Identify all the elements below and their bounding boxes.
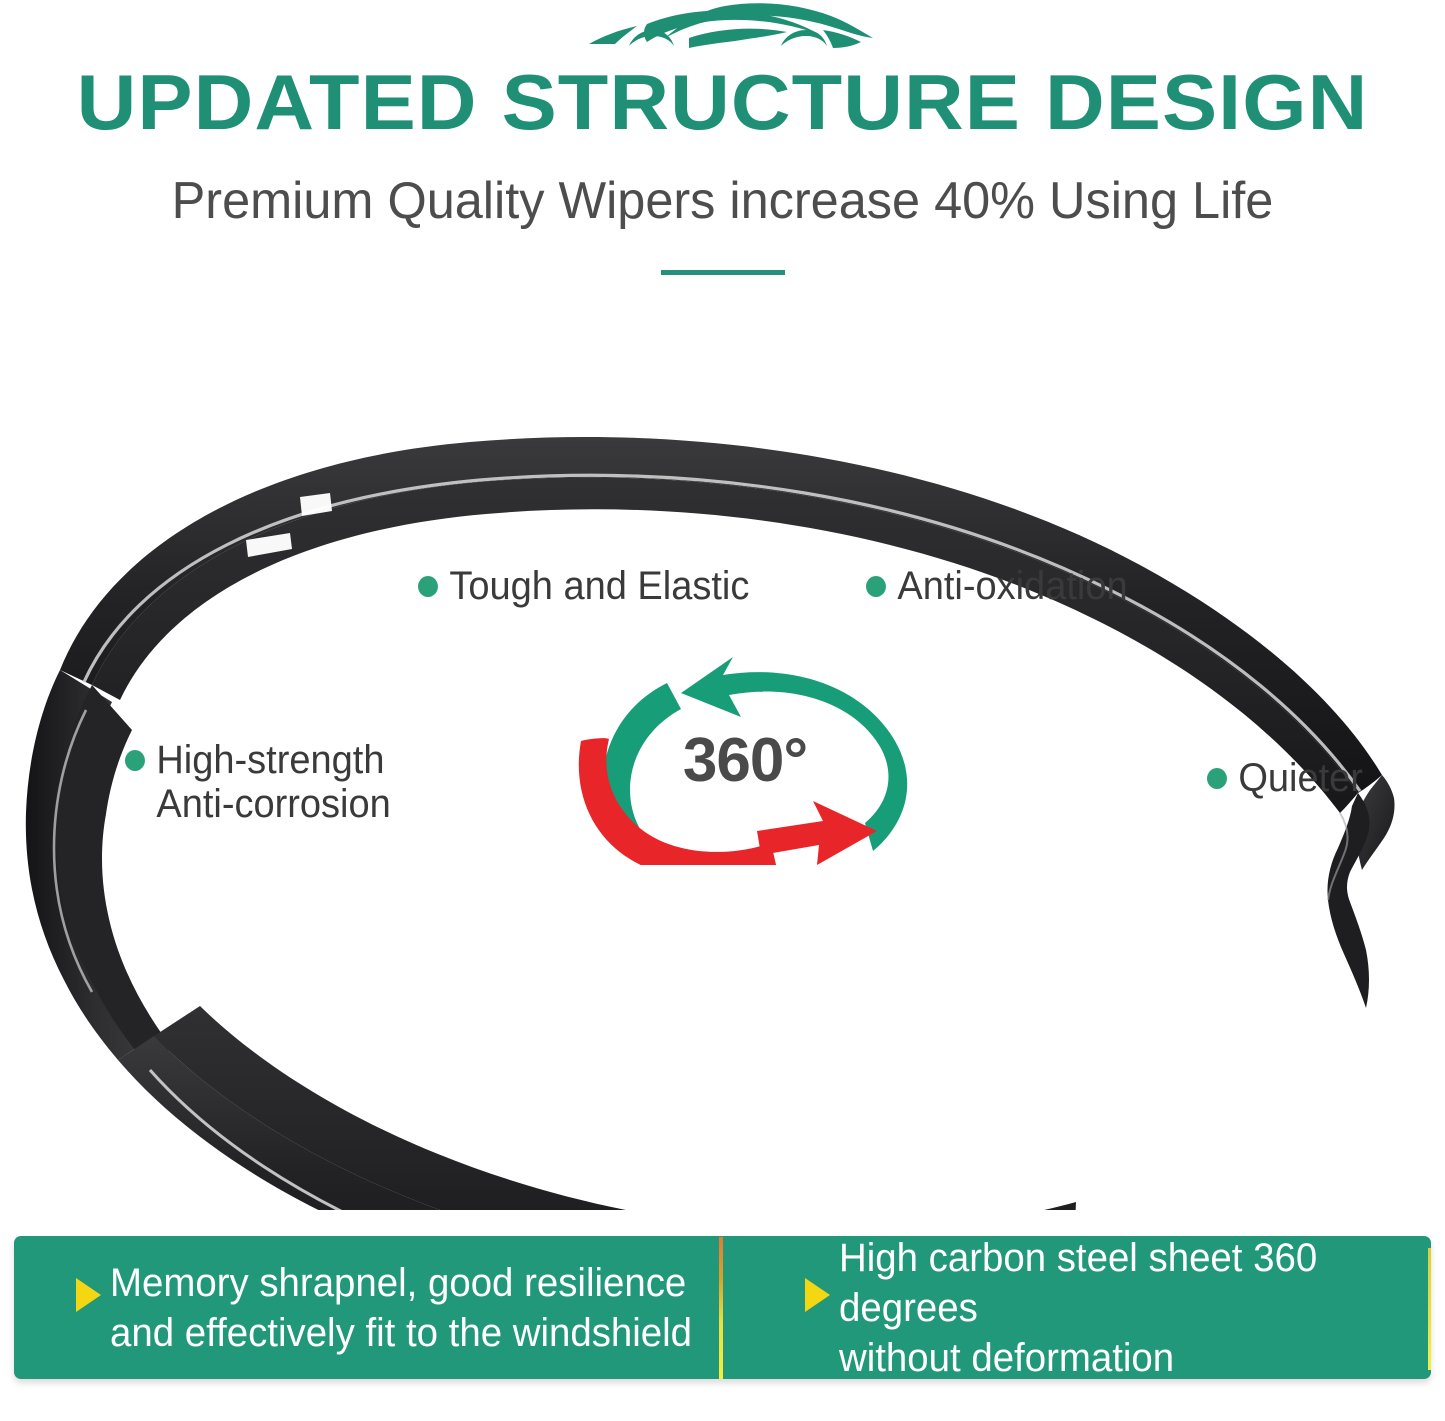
banner-item-text: Memory shrapnel, good resilience and eff… bbox=[110, 1258, 692, 1358]
car-silhouette-icon bbox=[585, 2, 875, 58]
title-divider-rule bbox=[661, 270, 785, 275]
banner-vertical-divider bbox=[719, 1237, 723, 1379]
green-arrow-icon bbox=[681, 657, 907, 851]
feature-label-text: High-strength Anti-corrosion bbox=[156, 738, 390, 826]
page-subtitle: Premium Quality Wipers increase 40% Usin… bbox=[22, 170, 1424, 232]
bullet-dot-icon bbox=[1207, 768, 1227, 789]
banner-item-text: High carbon steel sheet 360 degrees with… bbox=[839, 1236, 1408, 1379]
banner-item-high-carbon-steel: High carbon steel sheet 360 degrees with… bbox=[723, 1236, 1432, 1379]
red-arrow-icon bbox=[757, 801, 877, 865]
feature-label-tough-elastic: Tough and Elastic bbox=[418, 564, 749, 608]
feature-label-quieter: Quieter bbox=[1207, 756, 1363, 800]
feature-label-text: Quieter bbox=[1238, 756, 1363, 800]
banner-item-memory-shrapnel: Memory shrapnel, good resilience and eff… bbox=[14, 1236, 723, 1379]
bullet-dot-icon bbox=[866, 576, 886, 597]
feature-label-text: Anti-oxidation bbox=[897, 564, 1127, 608]
bullet-dot-icon bbox=[125, 750, 145, 771]
page-title: UPDATED STRUCTURE DESIGN bbox=[0, 58, 1445, 146]
bullet-dot-icon bbox=[418, 576, 438, 597]
product-feature-graphic: UPDATED STRUCTURE DESIGN Premium Quality… bbox=[0, 0, 1445, 1421]
feature-label-high-strength: High-strength Anti-corrosion bbox=[125, 738, 391, 826]
triangle-bullet-icon bbox=[805, 1278, 830, 1312]
feature-label-anti-oxidation: Anti-oxidation bbox=[866, 564, 1128, 608]
banner-edge-accent bbox=[1428, 1248, 1431, 1370]
rotation-360-badge bbox=[565, 655, 925, 865]
feature-label-text: Tough and Elastic bbox=[449, 564, 749, 608]
wiper-tip-taper bbox=[1327, 793, 1369, 1008]
triangle-bullet-icon bbox=[76, 1278, 101, 1312]
